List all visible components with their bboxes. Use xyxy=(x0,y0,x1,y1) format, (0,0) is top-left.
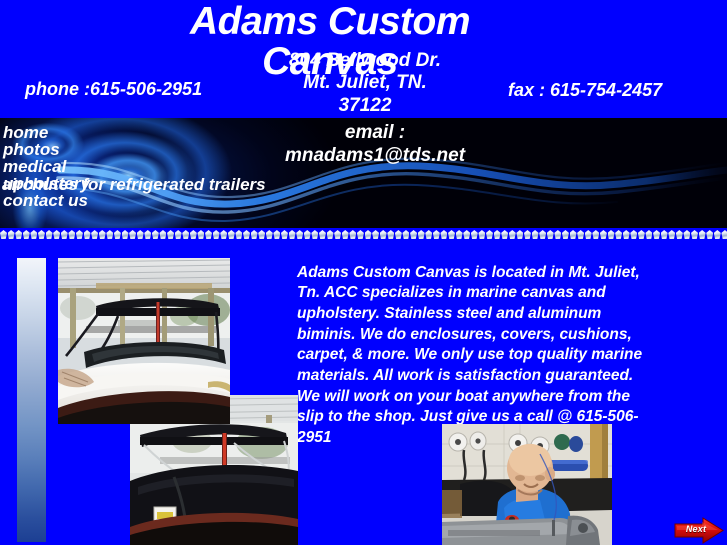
divider-diamond xyxy=(494,230,501,239)
divider-diamond xyxy=(197,230,204,239)
divider-diamond xyxy=(190,230,197,239)
divider-diamond xyxy=(30,230,37,239)
photo-boat-white-bimini xyxy=(58,258,230,424)
divider-diamond xyxy=(699,230,706,239)
nav-item-photos[interactable]: photos xyxy=(3,141,153,158)
divider-diamond xyxy=(372,230,379,239)
divider-diamond xyxy=(638,230,645,239)
divider-diamond xyxy=(380,230,387,239)
divider-diamond xyxy=(258,230,265,239)
divider-diamond xyxy=(547,230,554,239)
divider-diamond xyxy=(676,230,683,239)
divider-diamond xyxy=(289,230,296,239)
photo-worker-sewing xyxy=(442,424,612,545)
divider-diamond xyxy=(23,230,30,239)
divider-diamond xyxy=(106,230,113,239)
divider-diamond xyxy=(167,230,174,239)
divider-diamond xyxy=(608,230,615,239)
divider-diamond xyxy=(653,230,660,239)
divider-diamond xyxy=(645,230,652,239)
divider-diamond xyxy=(281,230,288,239)
divider-diamond xyxy=(486,230,493,239)
next-arrow-icon xyxy=(673,517,725,544)
email-label: email : xyxy=(210,122,540,145)
divider-diamond xyxy=(615,230,622,239)
nav-item-contact-us[interactable]: contact us xyxy=(3,192,153,209)
fax-number: fax : 615-754-2457 xyxy=(508,80,708,102)
divider-diamond xyxy=(395,230,402,239)
divider-diamond xyxy=(243,230,250,239)
divider-diamond xyxy=(129,230,136,239)
divider-diamond xyxy=(0,230,7,239)
divider-diamond xyxy=(532,230,539,239)
divider-diamond xyxy=(152,230,159,239)
divider-diamond xyxy=(296,230,303,239)
divider-diamond xyxy=(425,230,432,239)
divider-diamond xyxy=(84,230,91,239)
divider-diamond xyxy=(440,230,447,239)
divider-diamond xyxy=(478,230,485,239)
divider-diamond xyxy=(585,230,592,239)
email-block: email : mnadams1@tds.net xyxy=(210,122,540,168)
divider-diamond xyxy=(182,230,189,239)
divider-diamond xyxy=(456,230,463,239)
divider-diamond xyxy=(448,230,455,239)
divider-diamond xyxy=(501,230,508,239)
divider-diamond xyxy=(137,230,144,239)
divider-diamond xyxy=(562,230,569,239)
divider-diamond xyxy=(516,230,523,239)
divider-diamond xyxy=(334,230,341,239)
divider-diamond xyxy=(205,230,212,239)
divider-diamond xyxy=(721,230,727,239)
divider-diamond xyxy=(554,230,561,239)
divider-diamond xyxy=(600,230,607,239)
main-navigation: home photos medical upholstery contact u… xyxy=(3,124,153,209)
divider-diamond xyxy=(410,230,417,239)
divider-diamond xyxy=(387,230,394,239)
divider-diamond xyxy=(691,230,698,239)
divider-diamond xyxy=(304,230,311,239)
divider-diamond xyxy=(418,230,425,239)
divider-diamond xyxy=(91,230,98,239)
divider-diamond xyxy=(213,230,220,239)
divider-diamond xyxy=(99,230,106,239)
divider-diamond xyxy=(327,230,334,239)
divider-diamond xyxy=(273,230,280,239)
divider-diamond xyxy=(668,230,675,239)
divider-diamond xyxy=(159,230,166,239)
page-root: Adams Custom Canvas 804 Bellwood Dr. Mt.… xyxy=(0,0,727,545)
divider-diamond xyxy=(76,230,83,239)
divider-diamond xyxy=(592,230,599,239)
address-line-3: 37122 xyxy=(245,95,485,117)
divider-diamond xyxy=(68,230,75,239)
intro-paragraph: Adams Custom Canvas is located in Mt. Ju… xyxy=(297,263,652,449)
divider-diamond xyxy=(342,230,349,239)
divider-diamond xyxy=(683,230,690,239)
next-button[interactable]: Next xyxy=(673,517,725,544)
nav-item-medical[interactable]: medical xyxy=(3,158,153,175)
divider-diamond xyxy=(577,230,584,239)
divider-diamond xyxy=(8,230,15,239)
divider-diamond xyxy=(402,230,409,239)
divider-diamond xyxy=(235,230,242,239)
nav-item-upholstery[interactable]: upholstery xyxy=(3,175,153,192)
divider-diamond xyxy=(220,230,227,239)
divider-diamond xyxy=(53,230,60,239)
divider-diamond xyxy=(38,230,45,239)
divider-diamond xyxy=(623,230,630,239)
divider-diamond xyxy=(714,230,721,239)
divider-diamond xyxy=(570,230,577,239)
divider-diamond xyxy=(46,230,53,239)
divider-diamond xyxy=(433,230,440,239)
divider-diamond xyxy=(266,230,273,239)
address-block: 804 Bellwood Dr. Mt. Juliet, TN. 37122 xyxy=(245,50,485,117)
divider-diamond xyxy=(144,230,151,239)
divider-diamond xyxy=(61,230,68,239)
divider-diamond xyxy=(357,230,364,239)
divider-diamond xyxy=(228,230,235,239)
diamond-divider xyxy=(0,228,727,241)
email-link[interactable]: mnadams1@tds.net xyxy=(285,145,465,166)
divider-diamond xyxy=(114,230,121,239)
divider-diamond xyxy=(349,230,356,239)
address-line-2: Mt. Juliet, TN. xyxy=(245,72,485,94)
divider-diamond xyxy=(311,230,318,239)
divider-diamond xyxy=(251,230,258,239)
divider-diamond xyxy=(661,230,668,239)
divider-diamond xyxy=(15,230,22,239)
nav-item-home[interactable]: home xyxy=(3,124,153,141)
divider-diamond xyxy=(471,230,478,239)
divider-diamond xyxy=(365,230,372,239)
divider-diamond xyxy=(524,230,531,239)
divider-diamond xyxy=(509,230,516,239)
divider-diamond xyxy=(539,230,546,239)
decorative-gradient-bar xyxy=(17,258,46,542)
divider-diamond xyxy=(122,230,129,239)
phone-number: phone :615-506-2951 xyxy=(25,79,240,101)
divider-diamond xyxy=(175,230,182,239)
address-line-1: 804 Bellwood Dr. xyxy=(245,50,485,72)
divider-diamond xyxy=(706,230,713,239)
divider-diamond xyxy=(630,230,637,239)
divider-diamond xyxy=(319,230,326,239)
divider-diamond xyxy=(463,230,470,239)
